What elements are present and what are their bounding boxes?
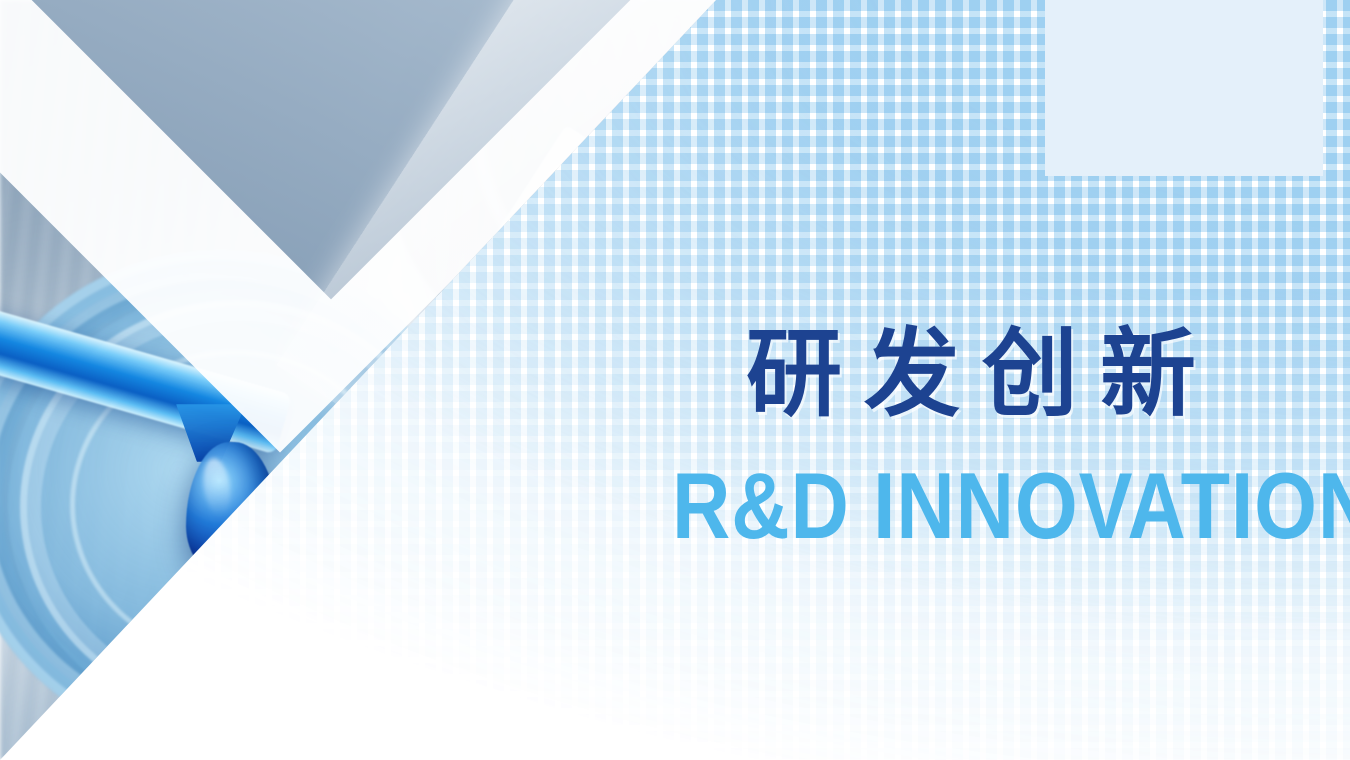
headline-chinese: 研发创新 bbox=[746, 326, 1218, 422]
headline-english: R&D INNOVATION bbox=[672, 459, 1350, 553]
rd-innovation-banner: 研发创新 R&D INNOVATION 恒瑞 bbox=[0, 0, 1350, 760]
logo-panel: 恒瑞 bbox=[1045, 0, 1323, 176]
